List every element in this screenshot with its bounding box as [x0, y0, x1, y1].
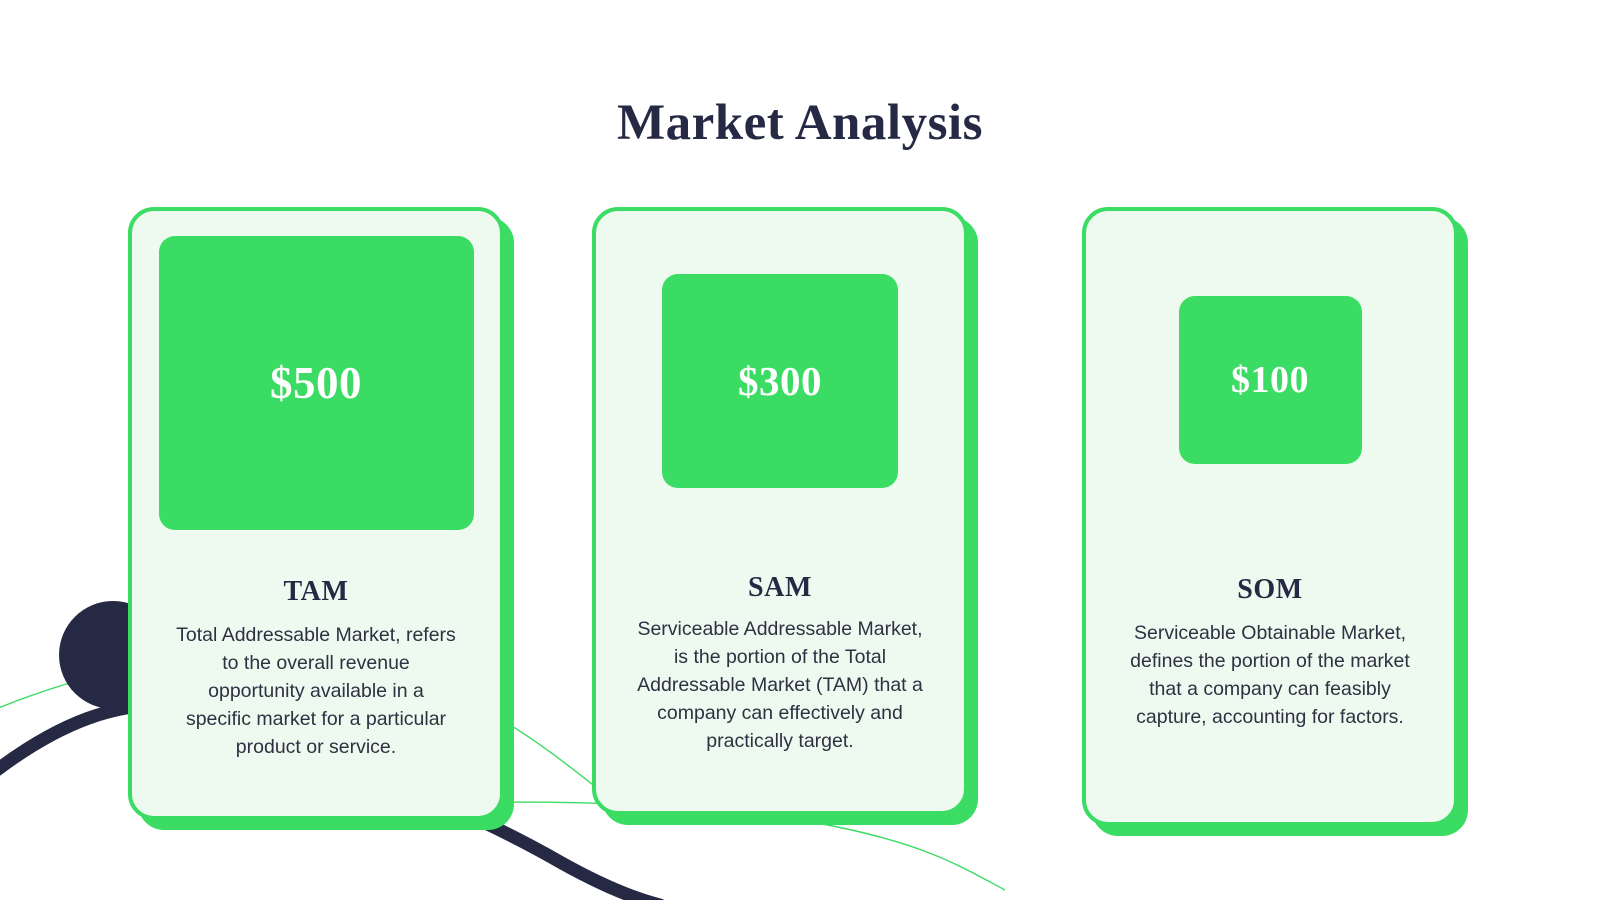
value-box-tam: $500 — [159, 236, 474, 530]
card-wrapper-tam: $500 TAM Total Addressable Market, refer… — [128, 207, 504, 820]
value-box-som: $100 — [1179, 296, 1362, 464]
value-text-som: $100 — [1231, 358, 1309, 402]
card-wrapper-som: $100 SOM Serviceable Obtainable Market, … — [1082, 207, 1458, 826]
value-box-sam: $300 — [662, 274, 898, 488]
slide-root: Market Analysis $500 TAM Total Addressab… — [0, 0, 1600, 900]
card-description-sam: Serviceable Addressable Market, is the p… — [632, 615, 928, 755]
page-title: Market Analysis — [0, 92, 1600, 154]
value-text-tam: $500 — [270, 361, 362, 405]
card-description-som: Serviceable Obtainable Market, defines t… — [1126, 619, 1414, 731]
market-card-tam[interactable]: $500 TAM Total Addressable Market, refer… — [128, 207, 504, 820]
card-description-tam: Total Addressable Market, refers to the … — [173, 621, 459, 761]
card-label-tam: TAM — [283, 576, 348, 608]
card-label-sam: SAM — [748, 572, 812, 604]
card-wrapper-sam: $300 SAM Serviceable Addressable Market,… — [592, 207, 968, 815]
market-card-sam[interactable]: $300 SAM Serviceable Addressable Market,… — [592, 207, 968, 815]
value-text-sam: $300 — [738, 359, 822, 403]
card-label-som: SOM — [1237, 574, 1303, 606]
market-card-som[interactable]: $100 SOM Serviceable Obtainable Market, … — [1082, 207, 1458, 826]
